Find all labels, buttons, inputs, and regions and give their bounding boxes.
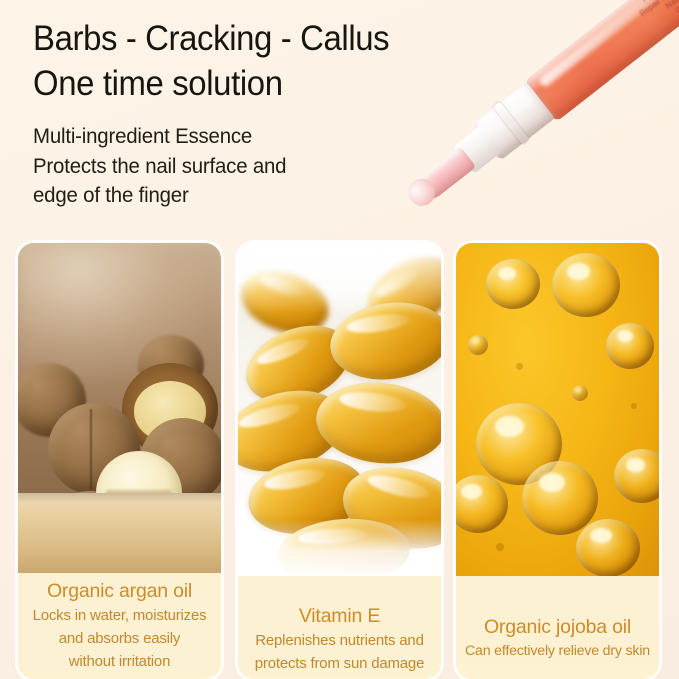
headline-line-1: Barbs - Cracking - Callus: [33, 16, 437, 61]
photo-top-blur: [238, 243, 441, 313]
subheadline-line-3: edge of the finger: [33, 181, 442, 211]
oil-bubble: [468, 335, 488, 355]
description-line: Can effectively relieve dry skin: [462, 640, 653, 663]
ingredient-card-argan-oil[interactable]: Organic argan oil Locks in water, moistu…: [18, 243, 221, 679]
oil-bubble: [522, 461, 598, 535]
subheadline-block: Multi-ingredient Essence Protects the na…: [33, 122, 442, 211]
oil-bubble: [552, 253, 620, 317]
description-line: Locks in water, moisturizes: [24, 604, 215, 627]
description-line: protects from sun damage: [244, 652, 435, 675]
macadamia-nuts-photo: [18, 243, 221, 573]
softgel-capsule: [312, 376, 441, 469]
subheadline-line-1: Multi-ingredient Essence: [33, 122, 442, 152]
ingredient-card-vitamin-e[interactable]: Vitamin E Replenishes nutrients and prot…: [238, 243, 441, 679]
pen-label-text: Anti-cracking Repair Essence Nail care O…: [582, 0, 679, 75]
header-block: Barbs - Cracking - Callus One time solut…: [33, 16, 463, 211]
oil-bubble: [576, 519, 640, 576]
subheadline-line-2: Protects the nail surface and: [33, 152, 442, 182]
card-caption: Vitamin E Replenishes nutrients and prot…: [238, 576, 441, 675]
headline-line-2: One time solution: [33, 61, 437, 106]
card-caption: Organic argan oil Locks in water, moistu…: [18, 573, 221, 673]
ingredient-title: Vitamin E: [244, 603, 435, 629]
oil-bubble: [606, 323, 654, 369]
oil-bubble: [572, 385, 588, 401]
wooden-bowl: [18, 493, 221, 573]
ingredient-description: Can effectively relieve dry skin: [462, 640, 653, 663]
oil-speck: [631, 403, 637, 409]
oil-speck: [516, 363, 523, 370]
vitamin-e-capsules-photo: [238, 243, 441, 576]
oil-bubble: [456, 475, 508, 533]
nuts-scene: [18, 243, 221, 573]
description-line: Replenishes nutrients and: [244, 629, 435, 652]
card-caption: Organic jojoba oil Can effectively relie…: [456, 576, 659, 663]
oil-scene: [456, 243, 659, 576]
description-line: and absorbs easily: [24, 627, 215, 650]
oil-bubble: [486, 259, 540, 309]
ingredient-title: Organic jojoba oil: [462, 614, 653, 640]
pen-barrel: Anti-cracking Repair Essence Nail care O…: [524, 0, 679, 122]
description-line: without irritation: [24, 650, 215, 673]
ingredient-title: Organic argan oil: [24, 578, 215, 604]
softgel-scene: [238, 243, 441, 576]
ingredient-description: Replenishes nutrients and protects from …: [244, 629, 435, 675]
nut-crack-line: [90, 409, 92, 490]
oil-bubble: [614, 449, 659, 503]
ingredient-description: Locks in water, moisturizes and absorbs …: [24, 604, 215, 673]
jojoba-oil-photo: [456, 243, 659, 576]
oil-speck: [496, 543, 504, 551]
ingredient-card-jojoba-oil[interactable]: Organic jojoba oil Can effectively relie…: [456, 243, 659, 679]
product-infographic: Barbs - Cracking - Callus One time solut…: [0, 0, 679, 679]
photo-bottom-fade: [238, 520, 441, 576]
